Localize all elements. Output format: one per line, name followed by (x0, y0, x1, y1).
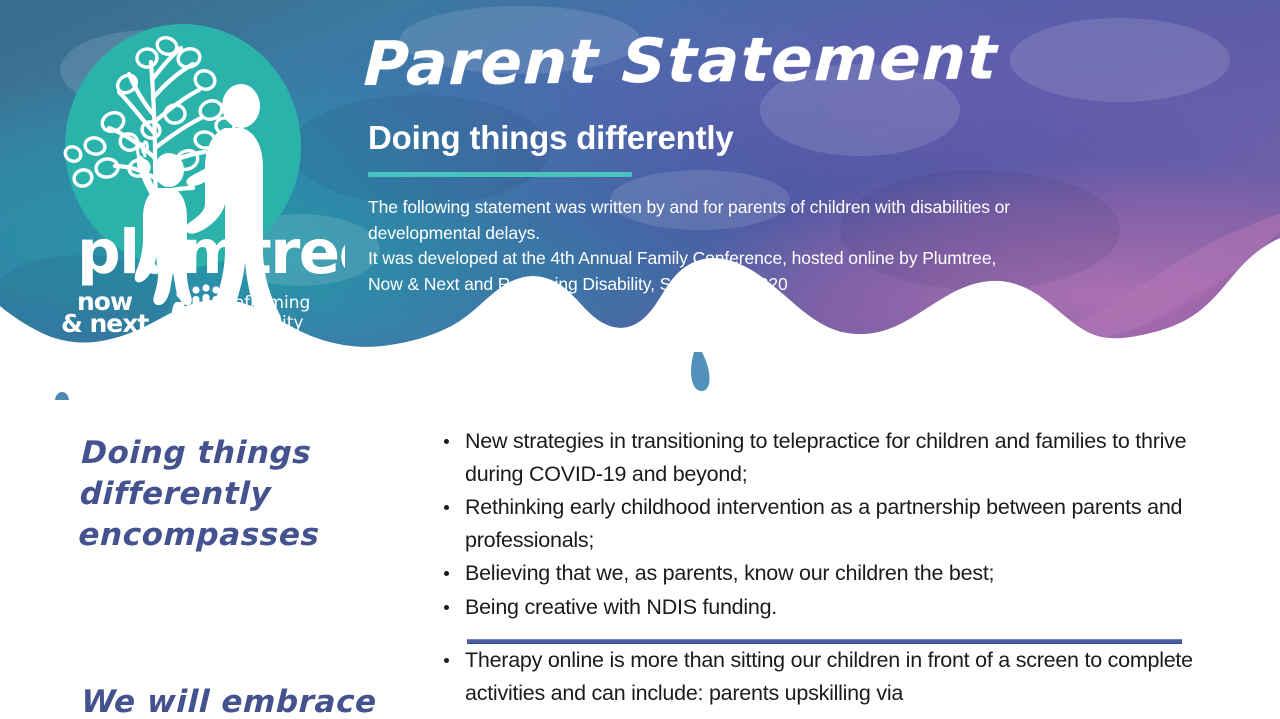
list-item: New strategies in transitioning to telep… (437, 425, 1197, 490)
sidebar-heading-2-line-1: We will embrace (81, 682, 412, 719)
plumtree-logo: plumtree now & next TM (55, 18, 345, 338)
bullet-list-secondary: Therapy online is more than sitting our … (437, 644, 1197, 709)
list-item: Therapy online is more than sitting our … (437, 644, 1197, 709)
list-item: Believing that we, as parents, know our … (437, 557, 1197, 590)
header-text-block: Parent Statement Doing things differentl… (364, 30, 1154, 297)
reframing-disability-logo: reframing disability (172, 284, 310, 336)
sidebar-heading-1-line-1: Doing things (81, 433, 412, 474)
plumtree-wordmark: plumtree (77, 217, 345, 288)
page-title: Parent Statement (363, 22, 1156, 100)
intro-line-3: It was developed at the 4th Annual Famil… (368, 246, 1154, 272)
reframing-disability-mark (172, 284, 220, 336)
intro-paragraph: The following statement was written by a… (368, 195, 1154, 297)
main-bullet-column: New strategies in transitioning to telep… (437, 425, 1197, 710)
now-and-next-trademark: TM (150, 326, 164, 336)
teal-accent-rule (368, 172, 632, 177)
reframing-disability-line1: reframing (227, 293, 310, 313)
body-content: Doing things differently encompasses We … (0, 400, 1280, 719)
poster-page: plumtree now & next TM (0, 0, 1280, 719)
sidebar-heading-1-line-2: differently (79, 474, 410, 515)
bullet-list-primary: New strategies in transitioning to telep… (437, 425, 1197, 623)
plumtree-logo-graphic: plumtree now & next TM (55, 18, 345, 338)
list-item: Rethinking early childhood intervention … (437, 491, 1197, 556)
reframing-disability-line2: disability (227, 313, 303, 333)
intro-line-1: The following statement was written by a… (368, 195, 1154, 221)
now-and-next-line2: & next (61, 309, 149, 338)
now-and-next-logo: now & next TM (61, 287, 164, 338)
page-subtitle: Doing things differently (368, 118, 1154, 158)
list-item: Being creative with NDIS funding. (437, 591, 1197, 624)
intro-line-2: developmental delays. (368, 221, 1154, 247)
paint-drip-center (691, 352, 710, 391)
sidebar-heading-1-line-3: encompasses (78, 515, 409, 556)
intro-line-4: Now & Next and Reframing Disability, Sep… (368, 272, 1154, 298)
sidebar-heading-embrace: We will embrace new approaches (79, 682, 412, 719)
sidebar-headings: Doing things differently encompasses We … (82, 433, 412, 719)
paint-drip-left (55, 392, 69, 400)
sidebar-heading-encompasses: Doing things differently encompasses (78, 433, 412, 556)
